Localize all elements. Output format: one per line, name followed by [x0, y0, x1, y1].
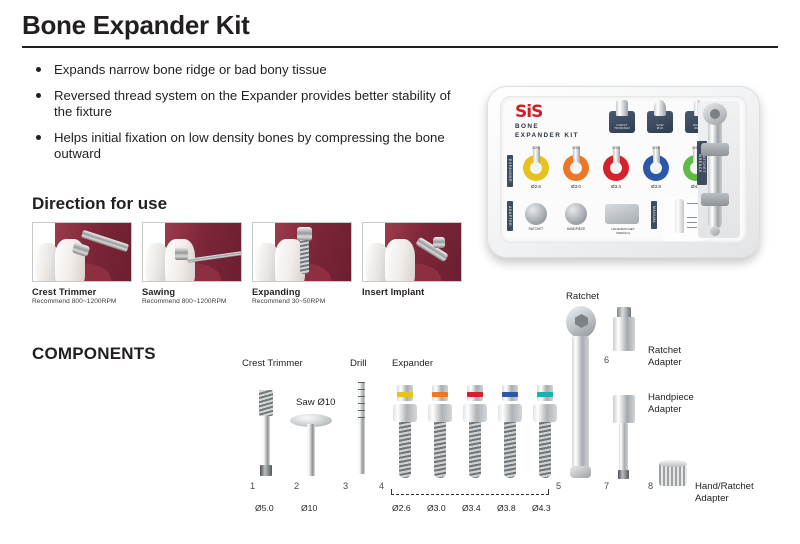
component-number-8: 8 — [648, 481, 653, 491]
component-hand-ratchet-adapter-top — [659, 460, 687, 467]
bullet-dot-icon — [36, 93, 41, 98]
component-drill-depth-marks — [358, 382, 365, 418]
instrument-saw-disc — [175, 247, 188, 260]
ring-top-label: Ø3.0 — [561, 146, 591, 150]
component-dim-expander-1: Ø2.6 — [392, 503, 411, 513]
expander-thread — [539, 422, 551, 478]
case-ratchet-head — [703, 103, 727, 125]
case-manual-diagram — [663, 197, 703, 241]
component-handpiece-adapter-connector — [618, 470, 629, 479]
case-ring-3-8 — [643, 155, 669, 181]
case-ratchet-slot: RATCHET WRENCH — [698, 101, 740, 238]
feature-text: Expands narrow bone ridge or bad bony ti… — [54, 62, 327, 77]
step-label: Insert Implant — [362, 287, 462, 297]
expander-thread — [434, 422, 446, 478]
component-number-4: 4 — [379, 481, 384, 491]
case-ratchet-grip — [701, 143, 729, 156]
direction-heading: Direction for use — [32, 194, 167, 214]
component-dim-crest-trimmer: Ø5.0 — [255, 503, 274, 513]
step-image-crest-trimmer — [32, 222, 132, 282]
component-label-handpiece-adapter: HandpieceAdapter — [648, 392, 694, 415]
kit-name-line2: EXPANDER KIT — [515, 132, 579, 139]
kit-case-photo: SiS BONE EXPANDER KIT CRESTTRIMMER SAWØ1… — [487, 86, 760, 258]
list-item: Helps initial fixation on low density bo… — [34, 130, 454, 163]
instrument-implant-head — [433, 237, 445, 248]
component-ratchet-tail — [570, 466, 591, 478]
component-ratchet-handle — [572, 336, 589, 470]
feature-text: Reversed thread system on the Expander p… — [54, 88, 451, 120]
list-item: Expands narrow bone ridge or bad bony ti… — [34, 62, 454, 79]
expander-collar — [463, 404, 487, 422]
expander-thread — [504, 422, 516, 478]
step-expanding: Expanding Recommend 30~50RPM — [252, 222, 352, 305]
ring-label: Ø3.0 — [561, 184, 591, 189]
step-label: Crest Trimmer — [32, 287, 132, 297]
ring-hole — [650, 162, 662, 174]
case-hand-ratchet-wrench — [605, 204, 639, 224]
ring-hole — [570, 162, 582, 174]
ring-hole — [530, 162, 542, 174]
ring-label: Ø3.8 — [641, 184, 671, 189]
bullet-dot-icon — [36, 67, 41, 72]
title-divider — [22, 46, 778, 48]
ring-label: Ø3.4 — [601, 184, 631, 189]
expander-collar — [498, 404, 522, 422]
expander-color-band — [502, 392, 518, 397]
case-adapter-label: RATCHET — [519, 227, 553, 231]
step-crest-trimmer: Crest Trimmer Recommend 800~1200RPM — [32, 222, 132, 305]
expander-range-bracket — [391, 489, 549, 495]
case-group-label-manual: MANUAL — [651, 201, 657, 229]
component-handpiece-adapter-shaft — [619, 423, 628, 475]
ring-top-label: Ø2.6 — [521, 146, 551, 150]
expander-thread — [469, 422, 481, 478]
step-sawing: Sawing Recommend 800~1200RPM — [142, 222, 242, 305]
kit-case-tray: SiS BONE EXPANDER KIT CRESTTRIMMER SAWØ1… — [500, 96, 747, 243]
expander-collar — [533, 404, 557, 422]
instrument-expander-thread — [300, 240, 309, 274]
component-label-ratchet-adapter: RatchetAdapter — [648, 345, 682, 368]
component-label-crest-trimmer: Crest Trimmer — [242, 358, 303, 369]
component-label-hand-ratchet-adapter: Hand/RatchetAdapter — [695, 481, 754, 504]
feature-list: Expands narrow bone ridge or bad bony ti… — [34, 62, 454, 172]
direction-steps: Crest Trimmer Recommend 800~1200RPM Sawi… — [32, 222, 462, 327]
component-drill-shaft — [358, 418, 365, 474]
case-ratchet-wrench — [708, 107, 722, 228]
tag-label: SAWØ10 — [647, 124, 673, 131]
case-tag-saw: SAWØ10 — [647, 111, 673, 133]
expander-color-band — [467, 392, 483, 397]
component-crest-trimmer-connector — [260, 465, 272, 476]
kit-name-line1: BONE — [515, 123, 539, 130]
expander-color-band — [397, 392, 413, 397]
component-label-drill: Drill — [350, 358, 367, 369]
step-note: Recommend 800~1200RPM — [142, 298, 242, 305]
component-ratchet-adapter-tip — [617, 307, 631, 317]
ring-top-label: Ø3.8 — [641, 146, 671, 150]
manual-leader-line — [687, 222, 697, 223]
bullet-dot-icon — [36, 135, 41, 140]
sis-logo: SiS — [515, 102, 542, 122]
case-adapter-label: HANDPIECE — [559, 227, 593, 231]
expander-color-band — [432, 392, 448, 397]
list-item: Reversed thread system on the Expander p… — [34, 88, 454, 121]
case-adapter-ratchet — [525, 203, 547, 225]
component-dim-expander-3: Ø3.4 — [462, 503, 481, 513]
case-adapter-handpiece — [565, 203, 587, 225]
step-image-insert-implant — [362, 222, 462, 282]
step-note: Recommend 30~50RPM — [252, 298, 352, 305]
component-number-6: 6 — [604, 355, 609, 365]
component-label-ratchet: Ratchet — [566, 291, 599, 302]
case-ratchet-grip — [701, 193, 729, 206]
manual-implant-icon — [675, 199, 684, 233]
component-number-3: 3 — [343, 481, 348, 491]
component-handpiece-adapter-body — [613, 395, 635, 423]
component-dim-expander-5: Ø4.3 — [532, 503, 551, 513]
crest-trimmer-tool-icon — [616, 100, 628, 116]
ring-top-label: Ø3.4 — [601, 146, 631, 150]
tag-label: CRESTTRIMMER — [609, 124, 635, 131]
case-ring-3-0 — [563, 155, 589, 181]
component-crest-trimmer-flutes — [259, 390, 273, 416]
step-label: Expanding — [252, 287, 352, 297]
expander-collar — [428, 404, 452, 422]
case-ratchet-tail — [710, 226, 720, 236]
case-group-label-expander: EXPANDER — [507, 155, 513, 187]
step-label: Sawing — [142, 287, 242, 297]
expander-collar — [393, 404, 417, 422]
component-label-saw: Saw Ø10 — [296, 397, 335, 408]
component-ratchet-adapter-body — [613, 317, 635, 351]
ring-label: Ø2.6 — [521, 184, 551, 189]
case-tag-crest-trimmer: CRESTTRIMMER — [609, 111, 635, 133]
component-dim-saw: Ø10 — [301, 503, 317, 513]
component-saw-shaft — [307, 424, 315, 476]
ring-hole — [610, 162, 622, 174]
case-group-label-adapter: ADAPTER — [507, 201, 513, 231]
instrument-expander-head — [297, 227, 312, 241]
component-number-2: 2 — [294, 481, 299, 491]
case-ring-3-4 — [603, 155, 629, 181]
step-note: Recommend 800~1200RPM — [32, 298, 132, 305]
components-heading: COMPONENTS — [32, 344, 156, 364]
expander-thread — [399, 422, 411, 478]
component-dim-expander-4: Ø3.8 — [497, 503, 516, 513]
step-image-sawing — [142, 222, 242, 282]
manual-leader-line — [687, 227, 697, 228]
page-title: Bone Expander Kit — [22, 10, 250, 41]
manual-leader-line — [687, 217, 697, 218]
case-wrench-label: HAND/RATCHETWRENCH — [605, 227, 641, 235]
saw-tool-icon — [654, 100, 666, 116]
component-label-expander: Expander — [392, 358, 433, 369]
component-number-7: 7 — [604, 481, 609, 491]
component-dim-expander-2: Ø3.0 — [427, 503, 446, 513]
component-number-1: 1 — [250, 481, 255, 491]
step-insert-implant: Insert Implant — [362, 222, 462, 298]
tooth — [385, 239, 415, 282]
expander-color-band — [537, 392, 553, 397]
brochure-page: Bone Expander Kit Expands narrow bone ri… — [0, 0, 800, 544]
step-image-expanding — [252, 222, 352, 282]
case-ring-2-6 — [523, 155, 549, 181]
component-number-5: 5 — [556, 481, 561, 491]
feature-text: Helps initial fixation on low density bo… — [54, 130, 445, 162]
